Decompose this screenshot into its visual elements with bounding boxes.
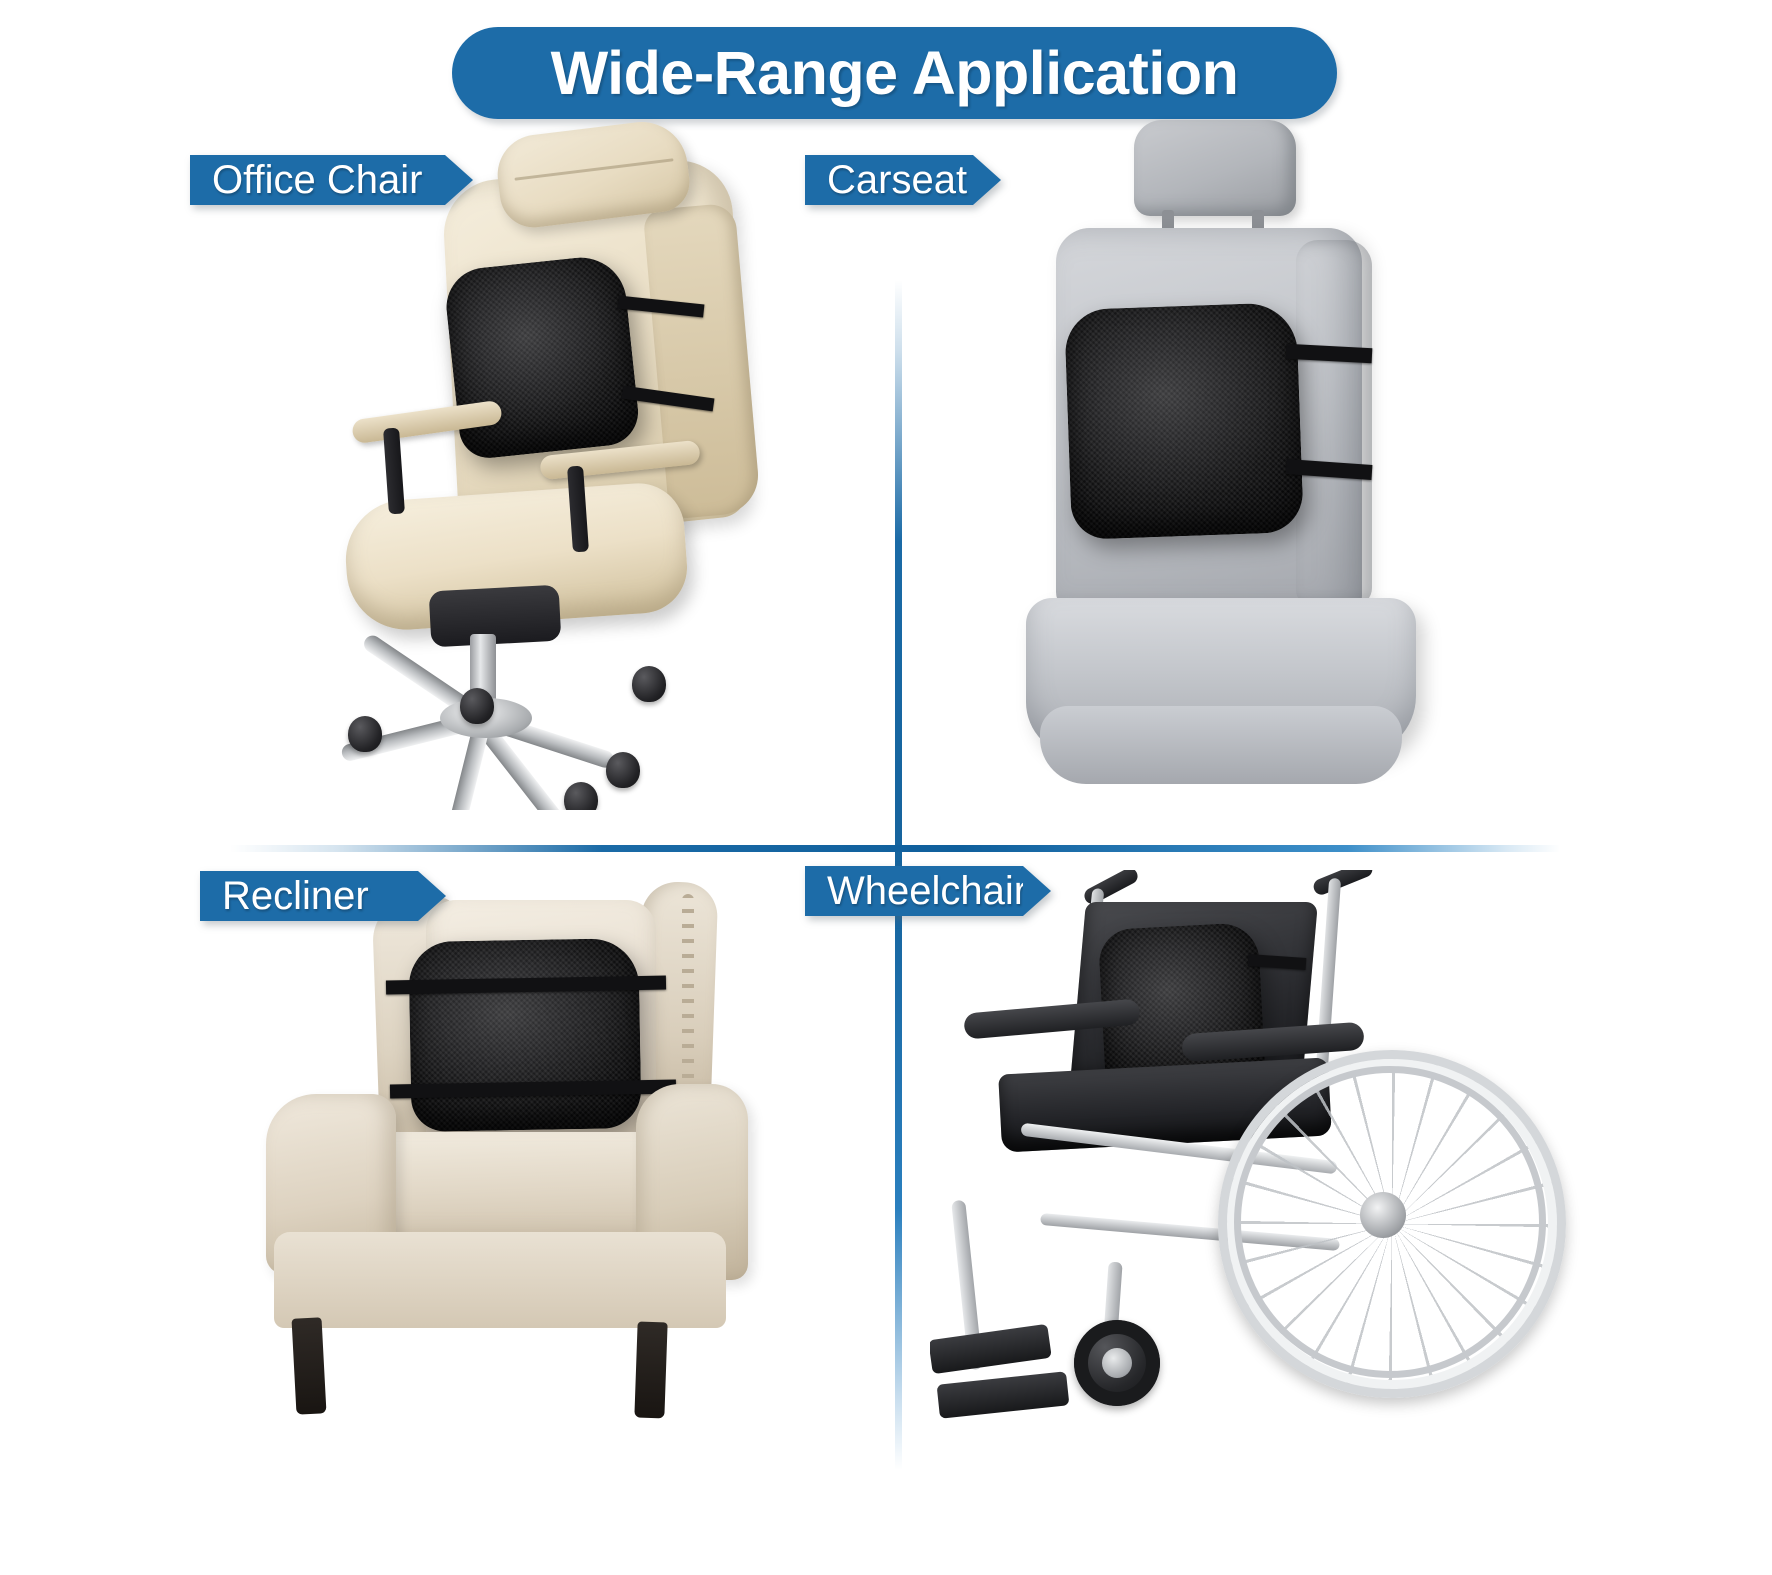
wheelchair-footplate — [930, 1324, 1052, 1374]
label-wheelchair[interactable]: Wheelchair — [805, 866, 1023, 916]
arrow-tip-icon — [1023, 866, 1051, 916]
office-chair-caster — [564, 782, 598, 810]
arrow-tip-icon — [445, 155, 473, 205]
office-chair-armrest-post-left — [383, 428, 405, 515]
label-carseat-text: Carseat — [827, 160, 967, 200]
recliner-leg — [292, 1317, 327, 1414]
wheelchair-back-frame-right — [1315, 878, 1341, 1084]
office-chair-caster — [460, 688, 494, 724]
photo-wheelchair — [930, 870, 1650, 1520]
page-title: Wide-Range Application — [551, 43, 1239, 104]
office-chair-caster — [606, 752, 640, 788]
wheelchair-front-caster-hub — [1102, 1348, 1132, 1378]
label-office-chair[interactable]: Office Chair — [190, 155, 445, 205]
wheelchair-push-handle-right — [1311, 870, 1374, 897]
photo-recliner — [230, 870, 890, 1520]
carseat-seat-front — [1040, 706, 1402, 784]
office-chair-caster — [632, 666, 666, 702]
label-office-chair-text: Office Chair — [212, 160, 422, 200]
label-wheelchair-text: Wheelchair — [827, 871, 1027, 911]
arrow-tip-icon — [418, 871, 446, 921]
carseat-headrest — [1134, 120, 1296, 216]
wheelchair-rear-wheel-hub — [1360, 1192, 1406, 1238]
quadrant-divider-horizontal — [230, 845, 1560, 852]
label-carseat[interactable]: Carseat — [805, 155, 973, 205]
lumbar-cushion-recliner — [408, 938, 641, 1132]
arrow-tip-icon — [973, 155, 1001, 205]
office-chair-caster — [348, 716, 382, 752]
recliner-base-skirt — [274, 1232, 726, 1328]
photo-office-chair — [300, 110, 860, 810]
label-recliner-text: Recliner — [222, 876, 369, 916]
recliner-leg — [634, 1322, 667, 1419]
wheelchair-footplate — [937, 1371, 1070, 1418]
label-recliner[interactable]: Recliner — [200, 871, 418, 921]
infographic-canvas: Wide-Range Application Office Chair — [0, 0, 1772, 1575]
page-title-banner: Wide-Range Application — [452, 27, 1337, 119]
lumbar-cushion-office-chair — [443, 253, 642, 461]
photo-carseat — [930, 110, 1610, 810]
lumbar-cushion-carseat — [1064, 302, 1304, 540]
carseat-backrest-bolster — [1296, 240, 1372, 606]
